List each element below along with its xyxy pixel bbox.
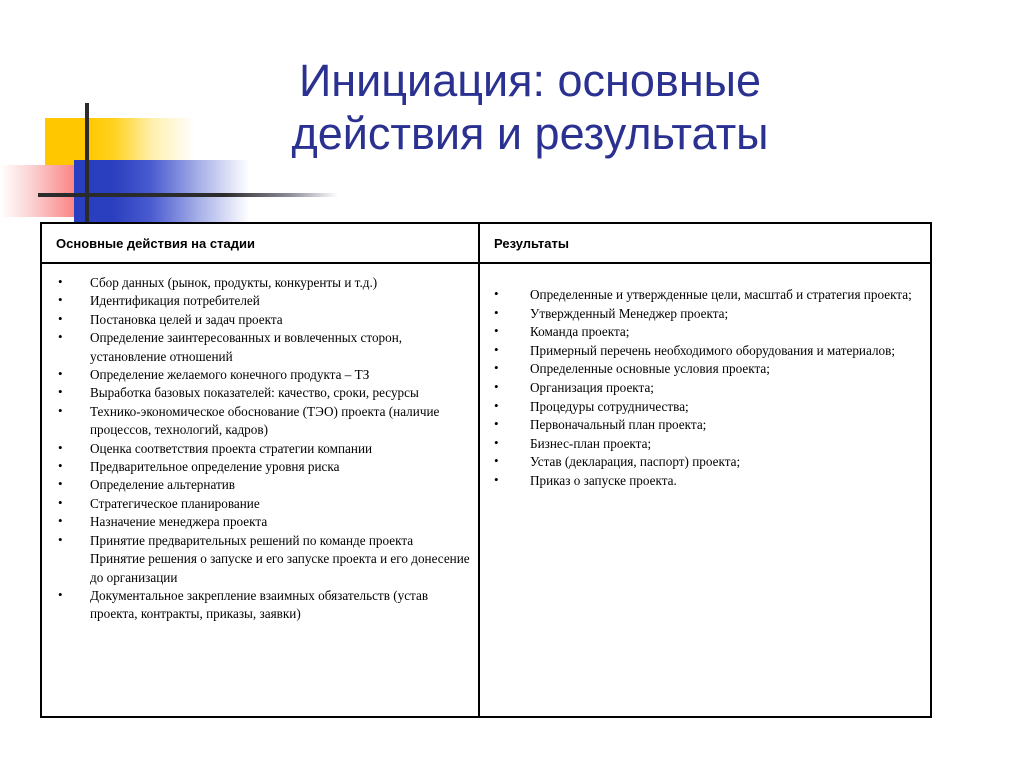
list-item: Устав (декларация, паспорт) проекта; (480, 453, 920, 472)
cell-main-actions: Сбор данных (рынок, продукты, конкуренты… (42, 264, 480, 716)
list-item: Определенные основные условия проекта; (480, 360, 920, 379)
list-item: Сбор данных (рынок, продукты, конкуренты… (42, 274, 470, 292)
initiation-table: Основные действия на стадии Результаты С… (40, 222, 932, 718)
list-item: Бизнес-план проекта; (480, 435, 920, 454)
cell-results: Определенные и утвержденные цели, масшта… (480, 264, 930, 716)
main-actions-list: Сбор данных (рынок, продукты, конкуренты… (42, 274, 470, 624)
list-item: Организация проекта; (480, 379, 920, 398)
slide-title-line-2: действия и результаты (120, 107, 940, 160)
list-item: Идентификация потребителей (42, 292, 470, 310)
list-item: Определение желаемого конечного продукта… (42, 366, 470, 384)
list-item: Определенные и утвержденные цели, масшта… (480, 286, 920, 305)
results-list: Определенные и утвержденные цели, масшта… (480, 286, 920, 491)
list-item: Приказ о запуске проекта. (480, 472, 920, 491)
list-item: Принятие предварительных решений по кома… (42, 532, 470, 587)
column-header-main-actions: Основные действия на стадии (42, 224, 480, 262)
list-item: Первоначальный план проекта; (480, 416, 920, 435)
list-item: Определение заинтересованных и вовлеченн… (42, 329, 470, 366)
table-header-row: Основные действия на стадии Результаты (42, 224, 930, 264)
list-item: Стратегическое планирование (42, 495, 470, 513)
list-item: Команда проекта; (480, 323, 920, 342)
list-item: Определение альтернатив (42, 476, 470, 494)
list-item: Технико-экономическое обоснование (ТЭО) … (42, 403, 470, 440)
list-item: Документальное закрепление взаимных обяз… (42, 587, 470, 624)
list-item: Предварительное определение уровня риска (42, 458, 470, 476)
list-item: Примерный перечень необходимого оборудов… (480, 342, 920, 361)
red-square-decoration (0, 165, 140, 217)
list-item: Назначение менеджера проекта (42, 513, 470, 531)
list-item: Утвержденный Менеджер проекта; (480, 305, 920, 324)
vertical-rule-decoration (85, 103, 89, 225)
list-item: Выработка базовых показателей: качество,… (42, 384, 470, 402)
slide-title-line-1: Инициация: основные (120, 54, 940, 107)
slide-title: Инициация: основные действия и результат… (120, 54, 940, 160)
list-item: Постановка целей и задач проекта (42, 311, 470, 329)
blue-square-decoration (74, 160, 249, 226)
list-item: Оценка соответствия проекта стратегии ко… (42, 440, 470, 458)
column-header-results: Результаты (480, 224, 930, 262)
horizontal-rule-decoration (38, 193, 338, 197)
table-body-row: Сбор данных (рынок, продукты, конкуренты… (42, 264, 930, 716)
list-item: Процедуры сотрудничества; (480, 398, 920, 417)
